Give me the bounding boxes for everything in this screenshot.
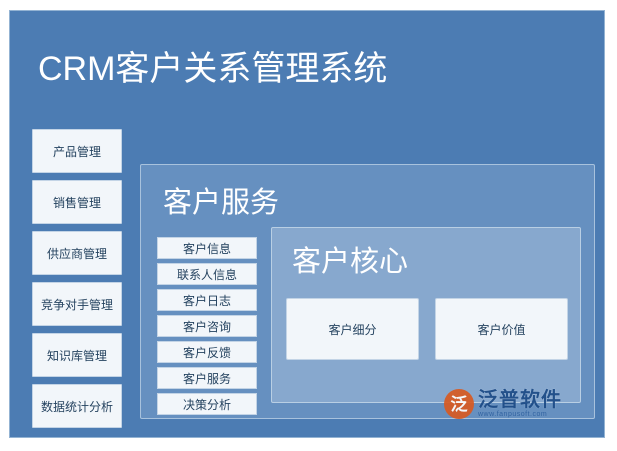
- service-item-label: 客户服务: [183, 370, 231, 387]
- core-item-label: 客户价值: [477, 321, 525, 338]
- module-label: 数据统计分析: [41, 398, 113, 415]
- module-item[interactable]: 产品管理: [32, 129, 122, 173]
- service-item[interactable]: 联系人信息: [157, 263, 257, 285]
- crm-main-panel: CRM客户关系管理系统 产品管理 销售管理 供应商管理 竞争对手管理 知识库管理…: [9, 10, 605, 438]
- service-item-label: 客户咨询: [183, 318, 231, 335]
- service-box-title: 客户服务: [163, 179, 279, 221]
- left-module-list: 产品管理 销售管理 供应商管理 竞争对手管理 知识库管理 数据统计分析: [32, 129, 122, 435]
- core-item-label: 客户细分: [328, 321, 376, 338]
- service-item[interactable]: 客户服务: [157, 367, 257, 389]
- core-item-list: 客户细分 客户价值: [286, 298, 568, 360]
- module-item[interactable]: 竞争对手管理: [32, 282, 122, 326]
- service-item[interactable]: 客户反馈: [157, 341, 257, 363]
- service-item-label: 客户信息: [183, 240, 231, 257]
- watermark-logo: 泛 泛普软件 www.fanpusoft.com: [444, 381, 590, 427]
- service-item[interactable]: 决策分析: [157, 393, 257, 415]
- core-box-title: 客户核心: [292, 238, 408, 280]
- module-item[interactable]: 供应商管理: [32, 231, 122, 275]
- service-item-label: 客户日志: [183, 292, 231, 309]
- module-label: 竞争对手管理: [41, 296, 113, 313]
- core-item[interactable]: 客户细分: [286, 298, 419, 360]
- module-item[interactable]: 数据统计分析: [32, 384, 122, 428]
- service-item[interactable]: 客户日志: [157, 289, 257, 311]
- module-item[interactable]: 知识库管理: [32, 333, 122, 377]
- watermark-sub: www.fanpusoft.com: [478, 411, 562, 419]
- core-item[interactable]: 客户价值: [435, 298, 568, 360]
- logo-mark-char: 泛: [451, 396, 468, 413]
- module-label: 供应商管理: [47, 245, 107, 262]
- service-item-label: 决策分析: [183, 396, 231, 413]
- service-item-label: 客户反馈: [183, 344, 231, 361]
- watermark-name: 泛普软件: [478, 390, 562, 411]
- customer-core-box: 客户核心 客户细分 客户价值: [271, 227, 581, 403]
- page-title: CRM客户关系管理系统: [38, 41, 387, 90]
- module-label: 知识库管理: [47, 347, 107, 364]
- module-label: 销售管理: [53, 194, 101, 211]
- logo-mark-icon: 泛: [444, 389, 474, 419]
- service-item[interactable]: 客户信息: [157, 237, 257, 259]
- module-item[interactable]: 销售管理: [32, 180, 122, 224]
- diagram-canvas: CRM客户关系管理系统 产品管理 销售管理 供应商管理 竞争对手管理 知识库管理…: [0, 0, 617, 451]
- service-item-label: 联系人信息: [177, 266, 237, 283]
- module-label: 产品管理: [53, 143, 101, 160]
- watermark-text: 泛普软件 www.fanpusoft.com: [478, 390, 562, 419]
- service-item[interactable]: 客户咨询: [157, 315, 257, 337]
- service-item-list: 客户信息 联系人信息 客户日志 客户咨询 客户反馈 客户服务 决策分析: [157, 237, 257, 419]
